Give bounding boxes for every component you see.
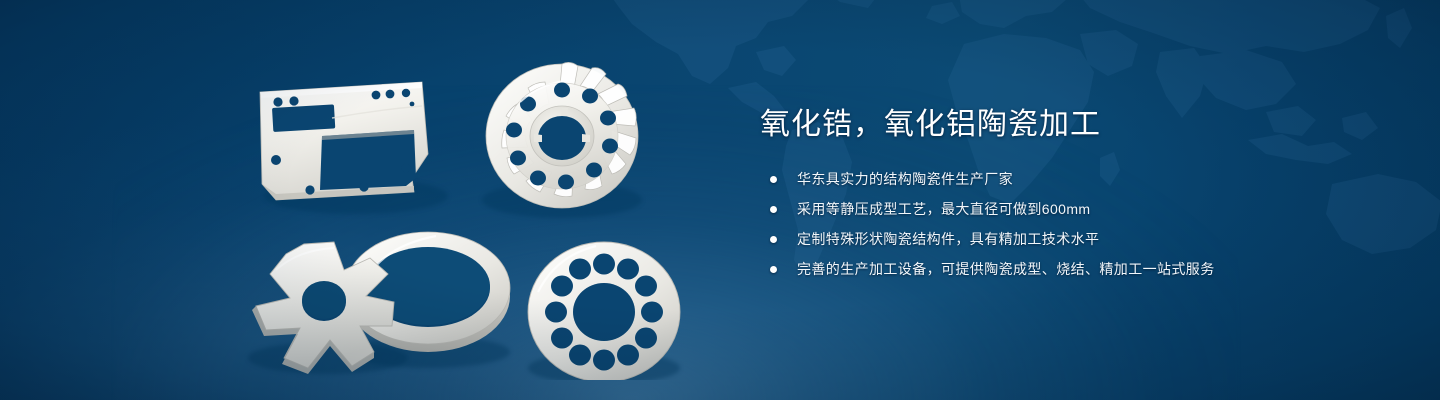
list-item: 完善的生产加工设备，可提供陶瓷成型、烧结、精加工一站式服务: [770, 258, 1360, 280]
feature-text: 完善的生产加工设备，可提供陶瓷成型、烧结、精加工一站式服务: [797, 261, 1215, 277]
list-item: 定制特殊形状陶瓷结构件，具有精加工技术水平: [770, 228, 1360, 250]
feature-text: 采用等静压成型工艺，最大直径可做到600mm: [797, 201, 1090, 217]
feature-text: 定制特殊形状陶瓷结构件，具有精加工技术水平: [797, 231, 1099, 247]
list-item: 华东具实力的结构陶瓷件生产厂家: [770, 168, 1360, 190]
banner-copy: 氧化锆，氧化铝陶瓷加工 华东具实力的结构陶瓷件生产厂家 采用等静压成型工艺，最大…: [760, 104, 1360, 280]
feature-text: 华东具实力的结构陶瓷件生产厂家: [797, 171, 1013, 187]
bullet-icon: [770, 206, 777, 213]
list-item: 采用等静压成型工艺，最大直径可做到600mm: [770, 198, 1360, 220]
bullet-icon: [770, 176, 777, 183]
feature-list: 华东具实力的结构陶瓷件生产厂家 采用等静压成型工艺，最大直径可做到600mm 定…: [760, 168, 1360, 280]
hero-banner: 氧化锆，氧化铝陶瓷加工 华东具实力的结构陶瓷件生产厂家 采用等静压成型工艺，最大…: [0, 0, 1440, 400]
bullet-icon: [770, 266, 777, 273]
page-title: 氧化锆，氧化铝陶瓷加工: [760, 104, 1360, 146]
bullet-icon: [770, 236, 777, 243]
